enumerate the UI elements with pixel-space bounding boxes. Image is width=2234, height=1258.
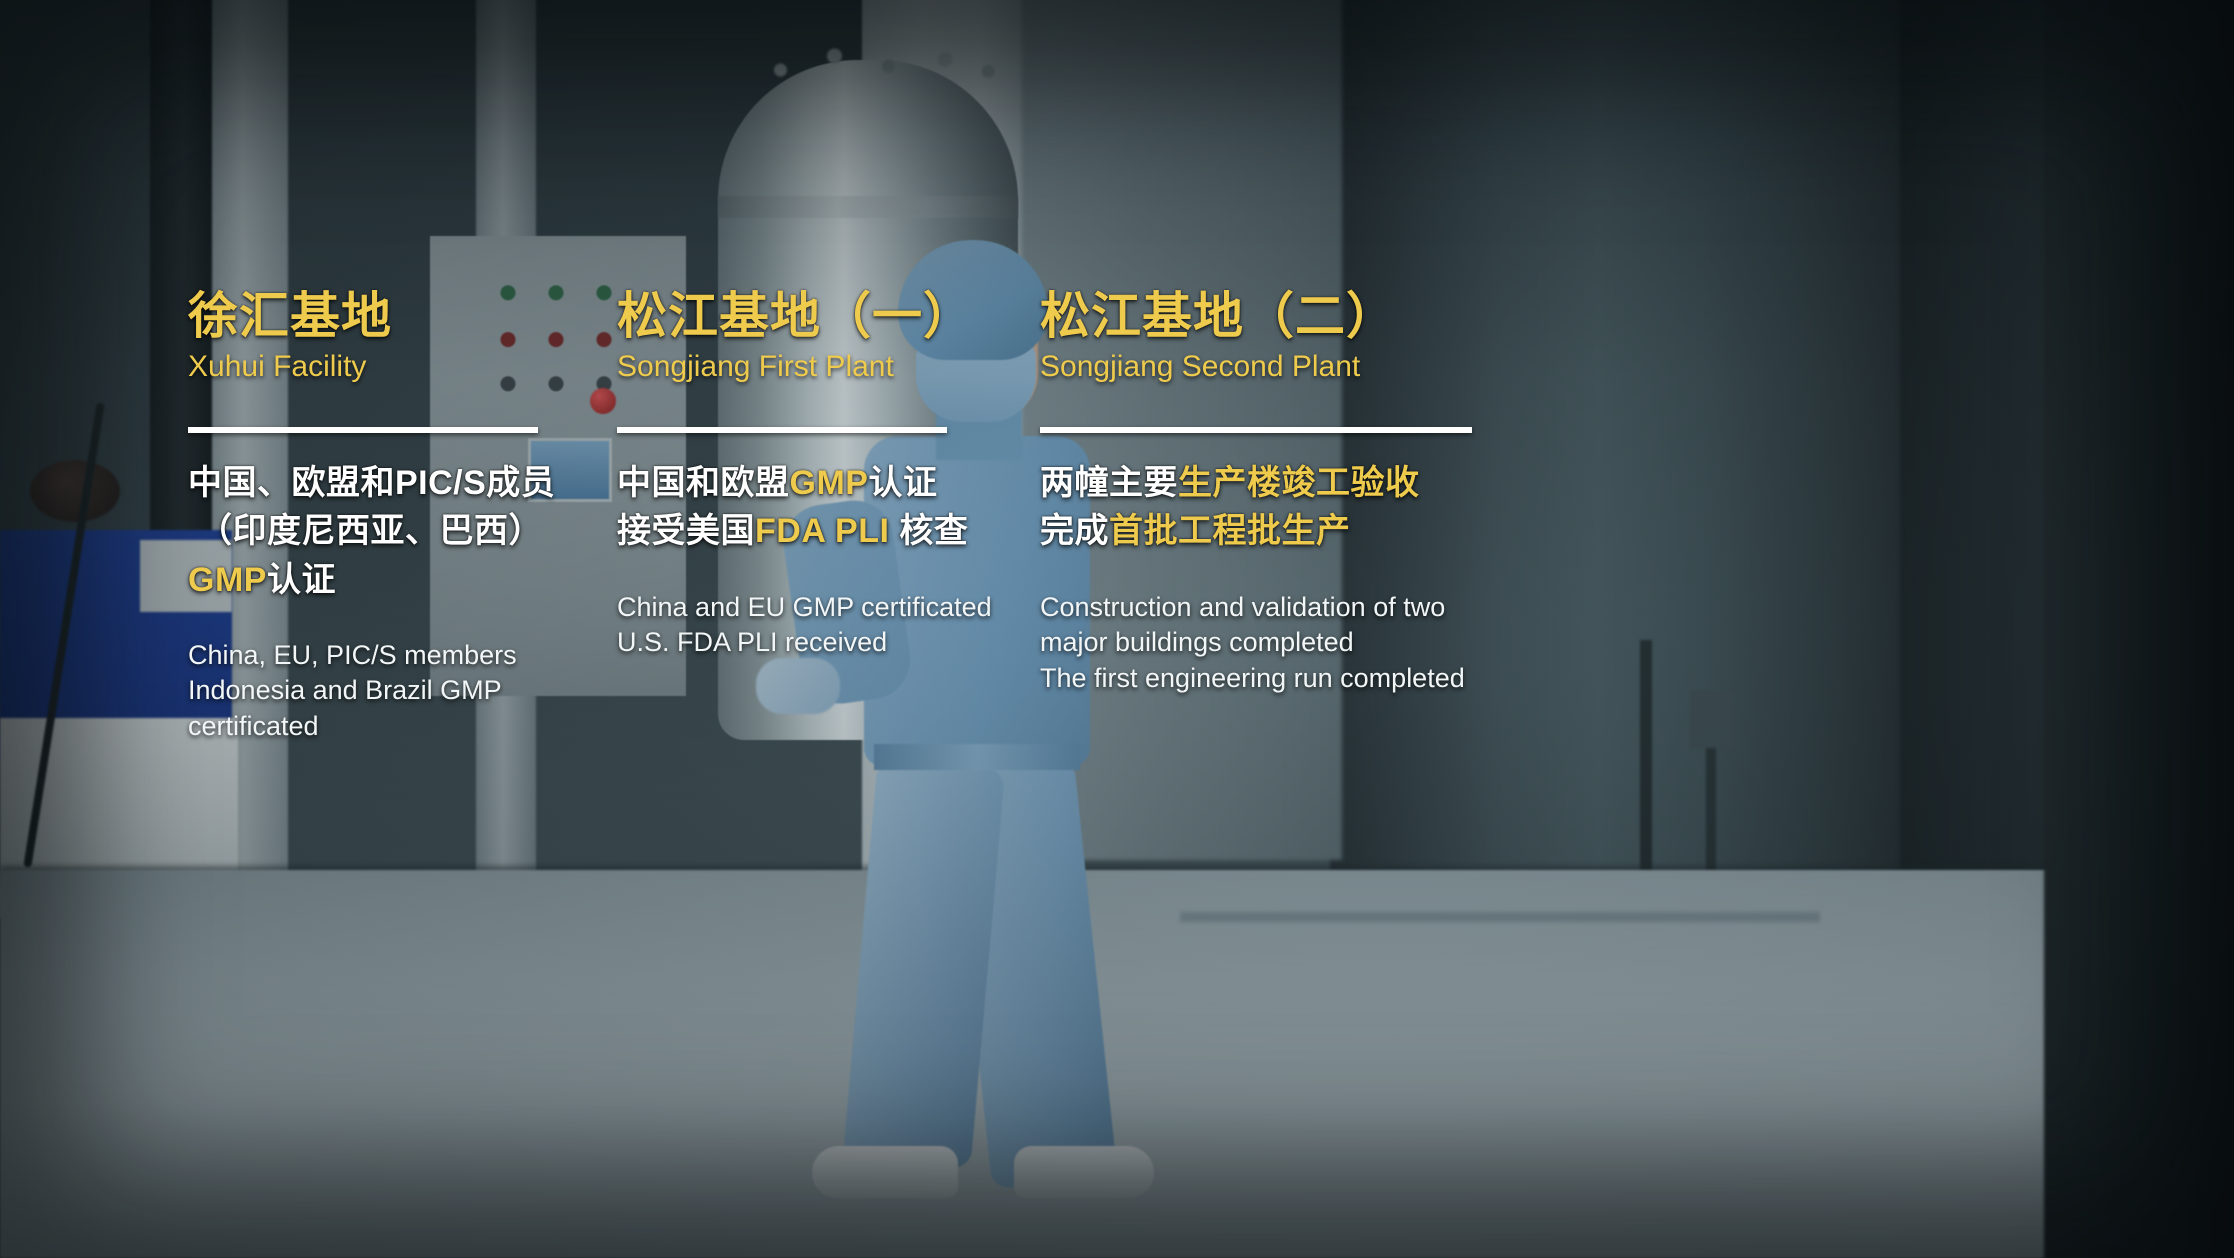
description-line: China, EU, PIC/S members xyxy=(188,638,518,674)
divider-rule xyxy=(1040,427,1472,433)
facility-highlights: 中国、欧盟和PIC/S成员（印度尼西亚、巴西）GMP认证 xyxy=(188,459,588,604)
highlight-accent-text: 生产楼竣工验收 xyxy=(1178,464,1420,502)
divider-rule xyxy=(617,427,947,433)
facility-highlights: 两幢主要生产楼竣工验收完成首批工程批生产 xyxy=(1040,459,1660,556)
description-line: China and EU GMP certificated xyxy=(617,590,1047,626)
highlight-plain-text: 认证 xyxy=(868,464,937,502)
highlight-line: 两幢主要生产楼竣工验收 xyxy=(1040,459,1660,507)
facility-title-cn: 松江基地（二） xyxy=(1040,290,1660,343)
highlight-accent-text: FDA PLI xyxy=(755,512,889,550)
facility-description-en: Construction and validation of twomajor … xyxy=(1040,590,1660,697)
facility-column-xuhui: 徐汇基地 Xuhui Facility 中国、欧盟和PIC/S成员（印度尼西亚、… xyxy=(188,290,588,745)
highlight-plain-text: 两幢主要 xyxy=(1040,464,1178,502)
highlight-line: 中国和欧盟GMP认证 xyxy=(617,459,1047,507)
highlight-line: GMP认证 xyxy=(188,556,588,604)
divider-rule xyxy=(188,427,538,433)
highlight-line: 中国、欧盟和PIC/S成员 xyxy=(188,459,588,507)
highlight-plain-text: 完成 xyxy=(1040,512,1109,550)
highlight-plain-text: 认证 xyxy=(267,561,336,599)
description-line: certificated xyxy=(188,709,518,745)
description-line: Construction and validation of two xyxy=(1040,590,1660,626)
highlight-line: 完成首批工程批生产 xyxy=(1040,507,1660,555)
facility-title-cn: 松江基地（一） xyxy=(617,290,1047,343)
highlight-line: 接受美国FDA PLI 核查 xyxy=(617,507,1047,555)
highlight-accent-text: GMP xyxy=(790,464,869,502)
highlight-plain-text: 中国、欧盟和PIC/S成员 xyxy=(188,464,555,502)
slide-content: 徐汇基地 Xuhui Facility 中国、欧盟和PIC/S成员（印度尼西亚、… xyxy=(0,0,2234,1258)
description-line: major buildings completed xyxy=(1040,625,1660,661)
facility-title-en: Songjiang Second Plant xyxy=(1040,349,1660,385)
highlight-plain-text: 中国和欧盟 xyxy=(617,464,790,502)
description-line: The first engineering run completed xyxy=(1040,661,1660,697)
facility-description-en: China and EU GMP certificatedU.S. FDA PL… xyxy=(617,590,1047,661)
highlight-plain-text: （印度尼西亚、巴西） xyxy=(198,512,543,550)
highlight-accent-text: 首批工程批生产 xyxy=(1109,512,1351,550)
highlight-plain-text: 核查 xyxy=(889,512,968,550)
facility-description-en: China, EU, PIC/S membersIndonesia and Br… xyxy=(188,638,518,745)
facility-title-cn: 徐汇基地 xyxy=(188,290,588,343)
facility-title-en: Xuhui Facility xyxy=(188,349,588,385)
facility-title-en: Songjiang First Plant xyxy=(617,349,1047,385)
description-line: U.S. FDA PLI received xyxy=(617,625,1047,661)
highlight-accent-text: GMP xyxy=(188,561,267,599)
description-line: Indonesia and Brazil GMP xyxy=(188,673,518,709)
slide-canvas: 徐汇基地 Xuhui Facility 中国、欧盟和PIC/S成员（印度尼西亚、… xyxy=(0,0,2234,1258)
highlight-line: （印度尼西亚、巴西） xyxy=(188,507,588,555)
highlight-plain-text: 接受美国 xyxy=(617,512,755,550)
facility-column-songjiang-second: 松江基地（二） Songjiang Second Plant 两幢主要生产楼竣工… xyxy=(1040,290,1660,696)
facility-highlights: 中国和欧盟GMP认证接受美国FDA PLI 核查 xyxy=(617,459,1047,556)
facility-column-songjiang-first: 松江基地（一） Songjiang First Plant 中国和欧盟GMP认证… xyxy=(617,290,1047,661)
